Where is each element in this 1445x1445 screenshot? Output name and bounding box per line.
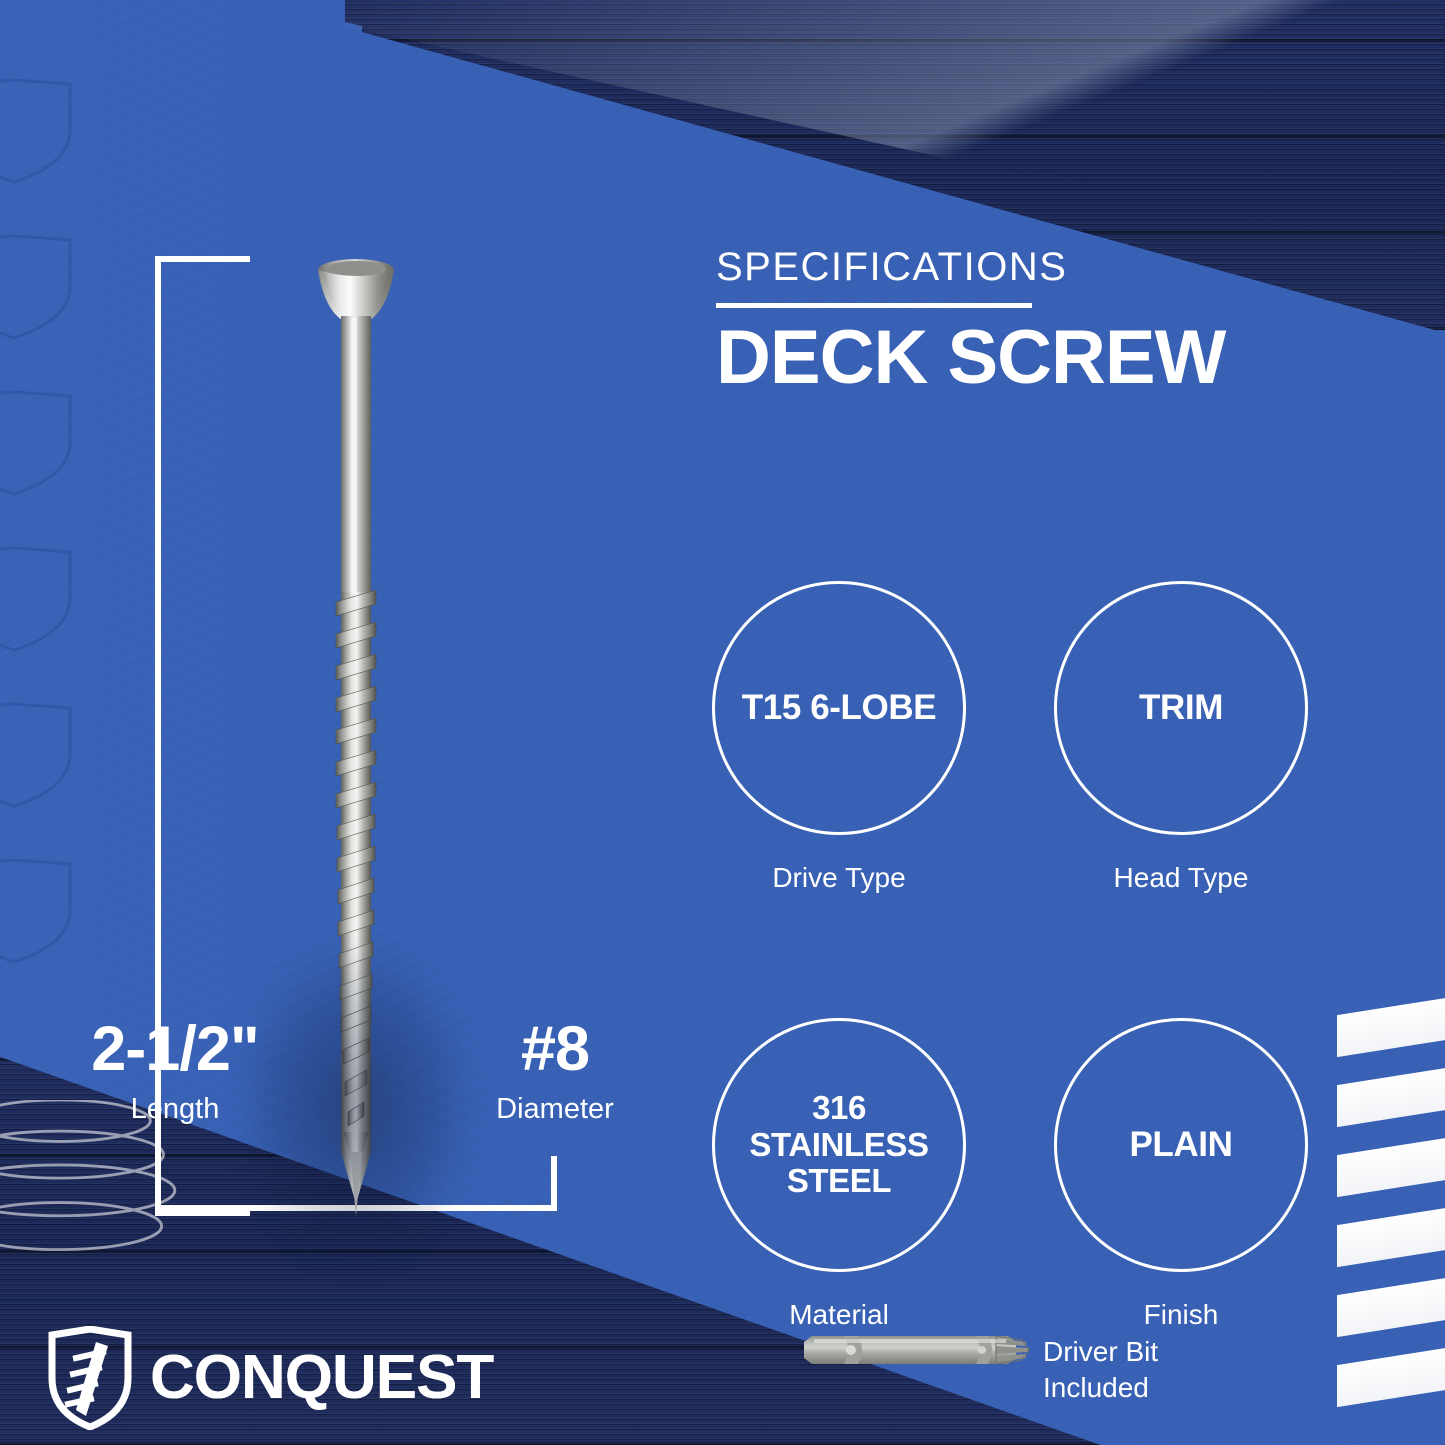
spec-circle-row-bottom: 316 STAINLESS STEEL Material PLAIN Finis… (712, 1018, 1292, 1331)
shield-watermark-column (0, 78, 74, 1014)
diameter-caption: Diameter (440, 1093, 670, 1126)
spec-circle: 316 STAINLESS STEEL (712, 1018, 966, 1272)
length-dimension-label: 2-1/2" Length (60, 1018, 290, 1126)
length-value: 2-1/2" (60, 1018, 290, 1081)
driver-bit-caption: Driver Bit Included (1043, 1334, 1158, 1406)
spec-caption: Head Type (1114, 862, 1249, 894)
spec-item-finish: PLAIN Finish (1054, 1018, 1308, 1331)
shield-watermark-icon (0, 78, 74, 184)
shield-screw-icon (46, 1326, 134, 1430)
shield-watermark-icon (0, 546, 74, 652)
spec-value: TRIM (1131, 688, 1231, 727)
spec-circle: T15 6-LOBE (712, 581, 966, 835)
infographic-canvas: 2-1/2" Length #8 Diameter SPECIFICATIONS… (0, 0, 1445, 1445)
spec-circle: PLAIN (1054, 1018, 1308, 1272)
spec-item-head-type: TRIM Head Type (1054, 581, 1308, 894)
shield-watermark-icon (0, 858, 74, 964)
driver-bit-caption-line1: Driver Bit (1043, 1334, 1158, 1370)
spec-caption: Material (789, 1299, 889, 1331)
torx-driver-bit-icon (800, 1330, 1030, 1370)
brand-logo: CONQUEST (46, 1326, 493, 1430)
stripe (1337, 1207, 1445, 1267)
stripe (1337, 997, 1445, 1057)
spec-item-material: 316 STAINLESS STEEL Material (712, 1018, 966, 1331)
spec-caption: Finish (1144, 1299, 1219, 1331)
deck-screw-image (296, 252, 416, 1212)
specifications-kicker: SPECIFICATIONS (716, 247, 1276, 287)
spec-circle-row-top: T15 6-LOBE Drive Type TRIM Head Type (712, 581, 1292, 894)
stripe (1337, 1137, 1445, 1197)
specifications-header: SPECIFICATIONS DECK SCREW (716, 247, 1276, 398)
diameter-value: #8 (440, 1018, 670, 1081)
spec-value: T15 6-LOBE (734, 688, 944, 727)
diameter-dimension-label: #8 Diameter (440, 1018, 670, 1126)
length-caption: Length (60, 1093, 290, 1126)
driver-bit-caption-line2: Included (1043, 1370, 1158, 1406)
shield-watermark-icon (0, 234, 74, 340)
spec-value: PLAIN (1121, 1125, 1240, 1164)
spec-circle: TRIM (1054, 581, 1308, 835)
decorative-stripes (1325, 1006, 1445, 1406)
spec-circle-grid: T15 6-LOBE Drive Type TRIM Head Type 316… (712, 581, 1292, 1331)
shield-watermark-icon (0, 702, 74, 808)
brand-name: CONQUEST (150, 1347, 493, 1409)
stripe (1337, 1277, 1445, 1337)
spec-caption: Drive Type (772, 862, 905, 894)
page-title: DECK SCREW (716, 318, 1276, 398)
stripe (1337, 1347, 1445, 1407)
header-divider (716, 303, 1032, 308)
stripe (1337, 1067, 1445, 1127)
spec-value: 316 STAINLESS STEEL (715, 1090, 963, 1201)
shield-watermark-icon (0, 390, 74, 496)
spec-item-drive-type: T15 6-LOBE Drive Type (712, 581, 966, 894)
